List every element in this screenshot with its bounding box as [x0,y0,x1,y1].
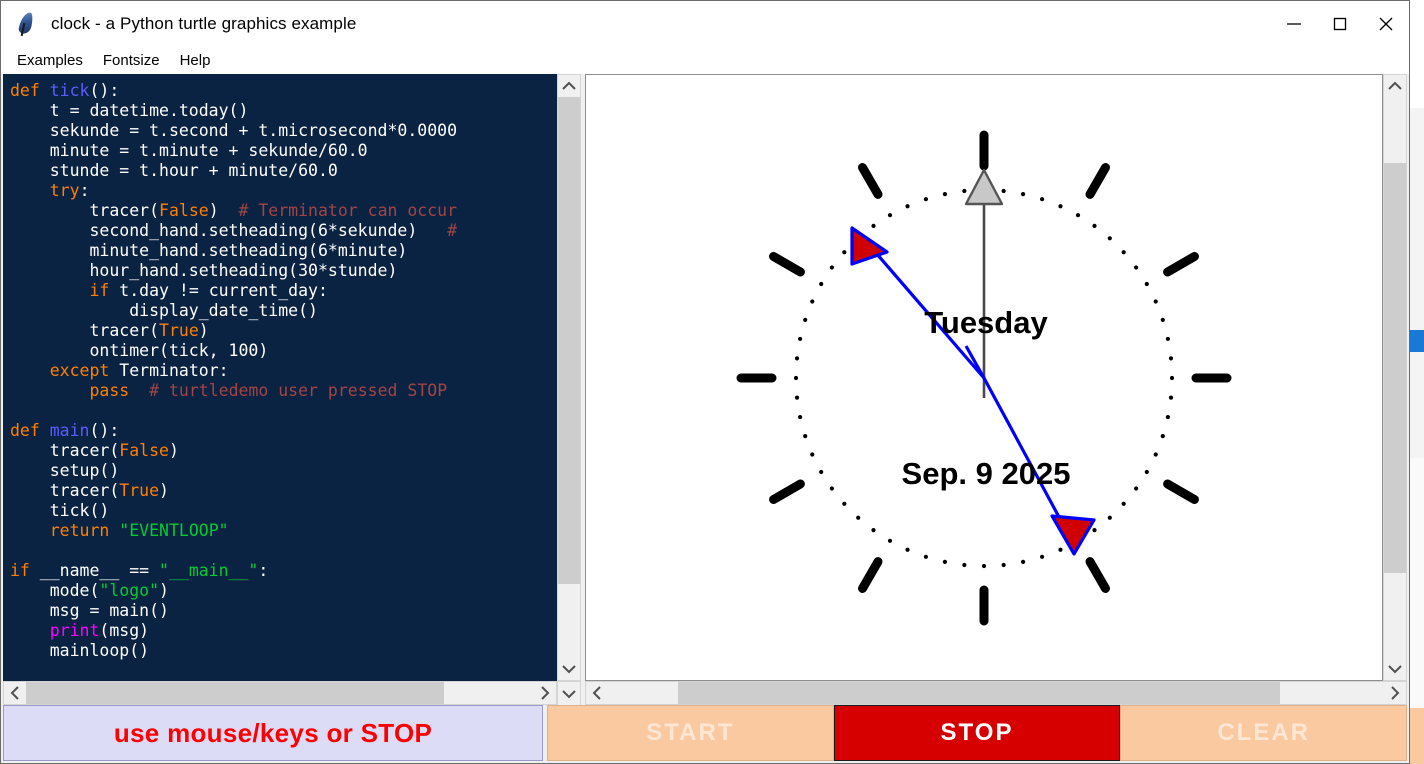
scroll-right-icon[interactable] [534,682,556,704]
minimize-icon[interactable] [1271,1,1317,47]
python-feather-icon [15,11,39,37]
canvas-vscroll-thumb[interactable] [1384,163,1406,573]
window-title: clock - a Python turtle graphics example [51,14,356,34]
window-controls [1271,1,1409,47]
code-scroll-corner [557,681,581,706]
start-button[interactable]: START [547,705,834,761]
main-window: clock - a Python turtle graphics example… [0,0,1410,764]
code-horizontal-scrollbar[interactable] [3,681,557,705]
minute-hand [852,228,984,378]
menu-bar: Examples Fontsize Help [1,47,1409,74]
scroll-up-icon[interactable] [1384,75,1406,97]
clock-graphic: Tuesday Sep. 9 2025 [674,78,1294,678]
canvas-horizontal-scrollbar[interactable] [585,681,1407,705]
menu-examples[interactable]: Examples [9,50,91,71]
status-bar: use mouse/keys or STOP [3,705,543,761]
scroll-right-icon[interactable] [1384,682,1406,704]
scroll-up-icon[interactable] [558,75,580,97]
title-bar[interactable]: clock - a Python turtle graphics example [1,1,1409,47]
canvas-pane: Tuesday Sep. 9 2025 [585,74,1407,706]
canvas-hscroll-thumb[interactable] [678,682,1280,704]
scroll-down-icon[interactable] [558,658,580,680]
code-vertical-scrollbar[interactable] [557,74,581,681]
clock-day-label: Tuesday [924,305,1048,340]
clock-date-label: Sep. 9 2025 [902,456,1071,491]
code-pane: def tick(): t = datetime.today() sekunde… [3,74,581,706]
maximize-icon[interactable] [1317,1,1363,47]
code-vscroll-thumb[interactable] [558,97,580,584]
clock-face: Tuesday Sep. 9 2025 [586,75,1382,680]
scroll-left-icon[interactable] [4,682,26,704]
canvas-vertical-scrollbar[interactable] [1383,74,1407,681]
code-hscroll-thumb[interactable] [26,682,444,704]
content-split: def tick(): t = datetime.today() sekunde… [3,74,1407,706]
turtle-canvas[interactable]: Tuesday Sep. 9 2025 [585,74,1383,681]
menu-fontsize[interactable]: Fontsize [95,50,168,71]
scroll-left-icon[interactable] [586,682,608,704]
stop-button[interactable]: STOP [834,705,1121,761]
clear-button[interactable]: CLEAR [1120,705,1407,761]
second-hand [966,346,1094,554]
close-icon[interactable] [1363,1,1409,47]
status-message: use mouse/keys or STOP [114,718,432,749]
bottom-bar: use mouse/keys or STOP START STOP CLEAR [3,705,1407,761]
menu-help[interactable]: Help [172,50,219,71]
background-window[interactable] [1408,0,1424,764]
code-editor[interactable]: def tick(): t = datetime.today() sekunde… [3,74,557,681]
app-root: clock - a Python turtle graphics example… [0,0,1424,764]
code-source: def tick(): t = datetime.today() sekunde… [4,75,556,661]
scroll-down-icon[interactable] [1384,658,1406,680]
